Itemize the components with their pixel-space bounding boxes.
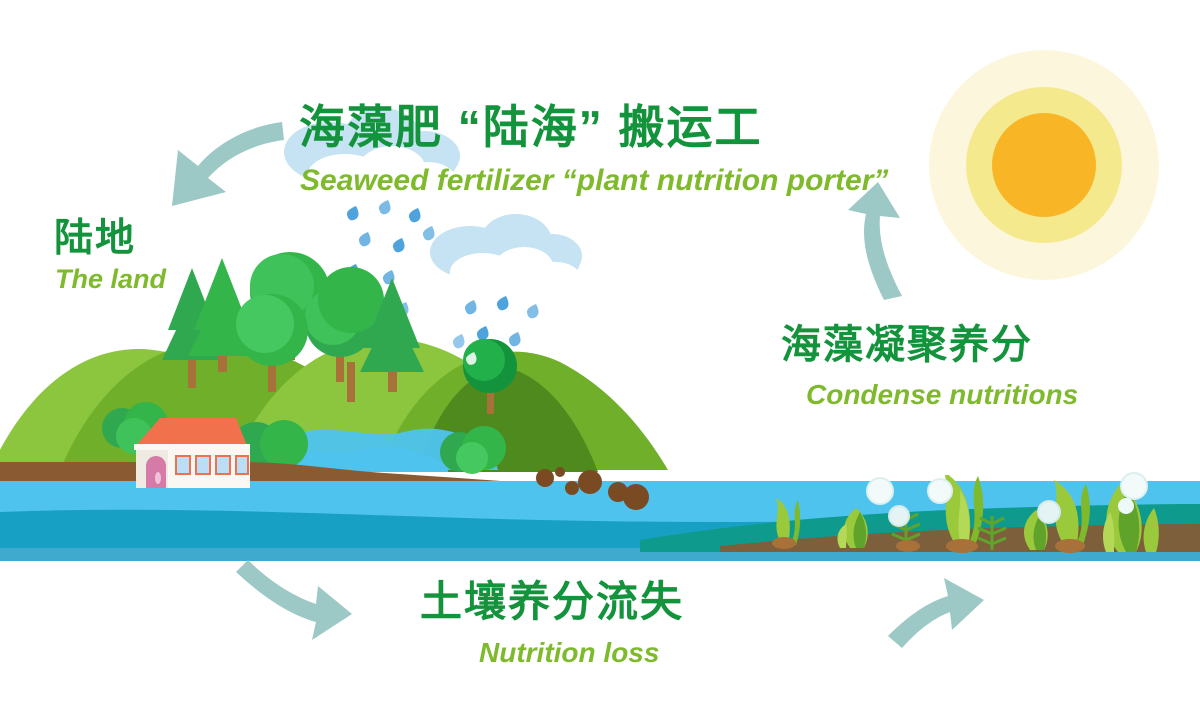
label-loss-cn: 土壤养分流失 xyxy=(420,581,684,623)
arrow-bottom-left xyxy=(236,560,352,640)
arrow-top-right xyxy=(848,182,902,300)
page-title-en: Seaweed fertilizer “plant nutrition port… xyxy=(300,166,888,196)
label-condense-cn: 海藻凝聚养分 xyxy=(781,325,1033,365)
hills xyxy=(0,339,668,472)
arrow-bottom-right xyxy=(888,578,984,648)
infographic-canvas: 海藻肥 “陆海” 搬运工 Seaweed fertilizer “plant n… xyxy=(0,0,1200,721)
label-condense-en: Condense nutritions xyxy=(806,381,1078,409)
page-title-cn: 海藻肥 “陆海” 搬运工 xyxy=(299,104,763,150)
label-land-en: The land xyxy=(55,266,166,293)
arrow-top-left xyxy=(172,122,284,206)
label-loss-en: Nutrition loss xyxy=(479,639,659,667)
sun-icon xyxy=(929,50,1159,280)
label-land-cn: 陆地 xyxy=(54,219,136,258)
water-body xyxy=(0,481,1200,561)
farm-house xyxy=(134,418,250,488)
cloud-right xyxy=(430,214,582,292)
